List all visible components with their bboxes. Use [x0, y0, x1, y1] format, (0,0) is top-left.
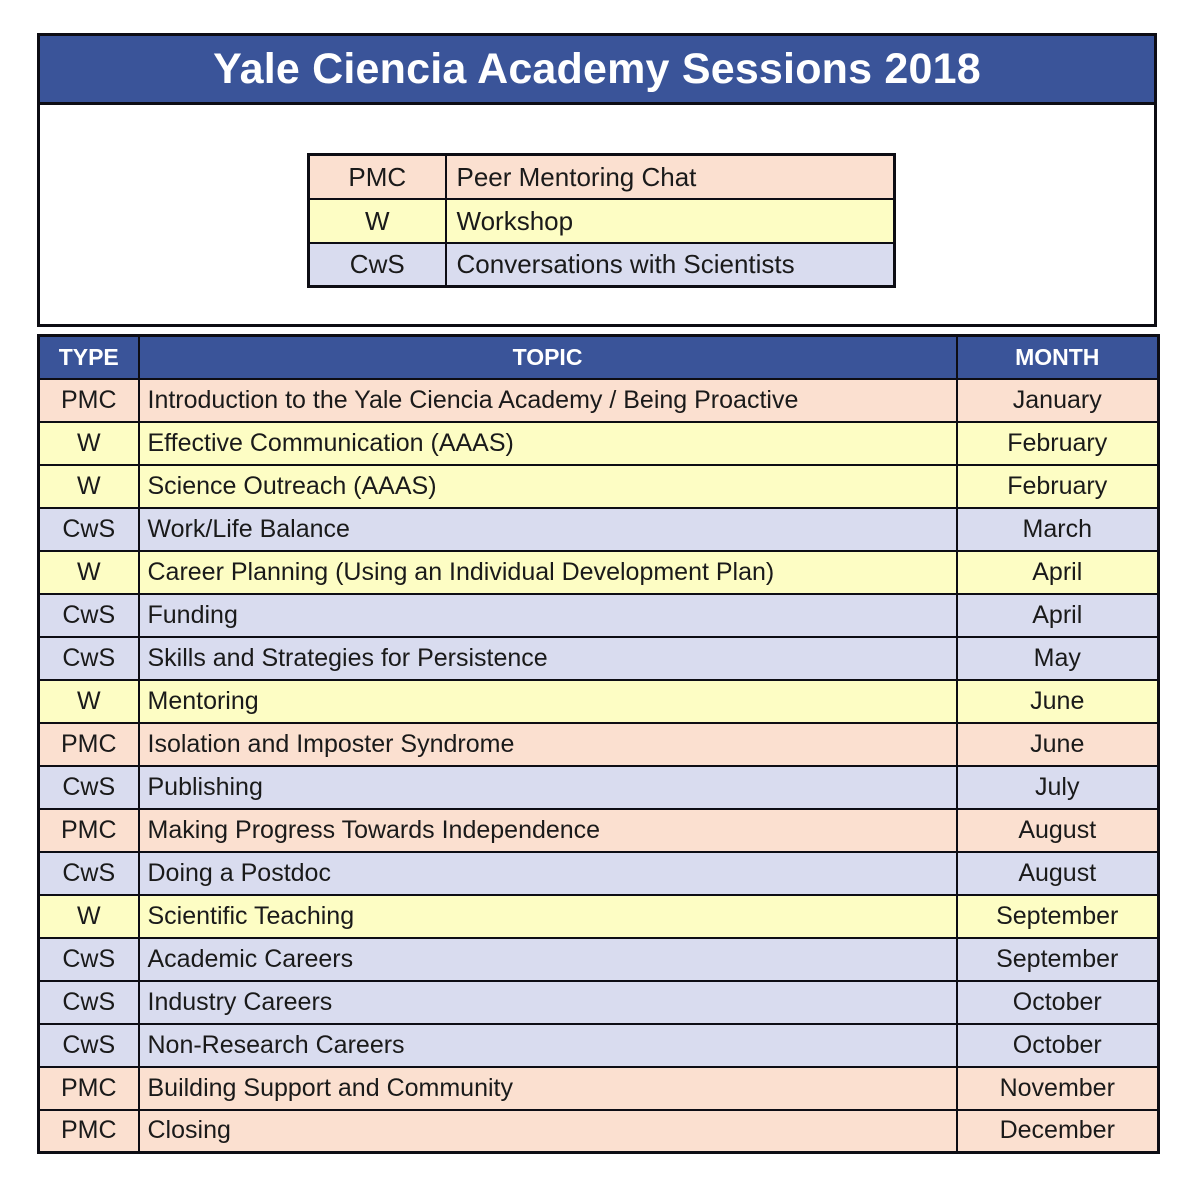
session-month-cell: September [957, 895, 1159, 938]
table-row: PMCBuilding Support and CommunityNovembe… [39, 1067, 1159, 1110]
session-type-cell: W [39, 680, 139, 723]
legend-row: PMCPeer Mentoring Chat [309, 155, 895, 199]
table-row: PMCMaking Progress Towards IndependenceA… [39, 809, 1159, 852]
legend-description: Workshop [446, 199, 895, 243]
table-row: PMCClosingDecember [39, 1110, 1159, 1153]
legend-code: W [309, 199, 446, 243]
session-type-cell: W [39, 895, 139, 938]
column-header-topic: TOPIC [139, 336, 957, 379]
legend-panel: PMCPeer Mentoring ChatWWorkshopCwSConver… [37, 105, 1157, 327]
session-type-cell: PMC [39, 1110, 139, 1153]
session-schedule-table: TYPE TOPIC MONTH PMCIntroduction to the … [37, 334, 1160, 1154]
session-type-cell: PMC [39, 723, 139, 766]
session-month-cell: August [957, 852, 1159, 895]
session-topic-cell: Isolation and Imposter Syndrome [139, 723, 957, 766]
session-month-cell: October [957, 981, 1159, 1024]
table-row: CwSFundingApril [39, 594, 1159, 637]
session-month-cell: April [957, 594, 1159, 637]
session-topic-cell: Academic Careers [139, 938, 957, 981]
table-row: CwSAcademic CareersSeptember [39, 938, 1159, 981]
session-month-cell: July [957, 766, 1159, 809]
table-row: CwSNon-Research CareersOctober [39, 1024, 1159, 1067]
session-month-cell: June [957, 723, 1159, 766]
session-month-cell: January [957, 379, 1159, 422]
session-type-cell: PMC [39, 809, 139, 852]
session-type-cell: W [39, 465, 139, 508]
column-header-type: TYPE [39, 336, 139, 379]
legend-row: CwSConversations with Scientists [309, 243, 895, 287]
legend-description: Peer Mentoring Chat [446, 155, 895, 199]
table-row: CwSWork/Life BalanceMarch [39, 508, 1159, 551]
session-type-cell: CwS [39, 508, 139, 551]
session-type-cell: CwS [39, 852, 139, 895]
legend-table: PMCPeer Mentoring ChatWWorkshopCwSConver… [307, 153, 896, 288]
table-row: CwSSkills and Strategies for Persistence… [39, 637, 1159, 680]
legend-code: PMC [309, 155, 446, 199]
session-topic-cell: Work/Life Balance [139, 508, 957, 551]
page-title: Yale Ciencia Academy Sessions 2018 [213, 48, 981, 91]
session-type-cell: PMC [39, 379, 139, 422]
session-type-cell: W [39, 551, 139, 594]
legend-code: CwS [309, 243, 446, 287]
table-row: WMentoringJune [39, 680, 1159, 723]
table-row: WScience Outreach (AAAS)February [39, 465, 1159, 508]
session-topic-cell: Science Outreach (AAAS) [139, 465, 957, 508]
session-type-cell: CwS [39, 1024, 139, 1067]
session-month-cell: December [957, 1110, 1159, 1153]
session-month-cell: May [957, 637, 1159, 680]
session-topic-cell: Doing a Postdoc [139, 852, 957, 895]
table-row: CwSPublishingJuly [39, 766, 1159, 809]
session-month-cell: June [957, 680, 1159, 723]
session-topic-cell: Publishing [139, 766, 957, 809]
table-row: WCareer Planning (Using an Individual De… [39, 551, 1159, 594]
session-type-cell: CwS [39, 981, 139, 1024]
session-topic-cell: Making Progress Towards Independence [139, 809, 957, 852]
session-month-cell: November [957, 1067, 1159, 1110]
column-header-month: MONTH [957, 336, 1159, 379]
session-month-cell: March [957, 508, 1159, 551]
session-topic-cell: Effective Communication (AAAS) [139, 422, 957, 465]
session-topic-cell: Introduction to the Yale Ciencia Academy… [139, 379, 957, 422]
poster-title-bar: Yale Ciencia Academy Sessions 2018 [37, 33, 1157, 105]
session-topic-cell: Closing [139, 1110, 957, 1153]
session-month-cell: September [957, 938, 1159, 981]
session-topic-cell: Career Planning (Using an Individual Dev… [139, 551, 957, 594]
table-row: PMCIntroduction to the Yale Ciencia Acad… [39, 379, 1159, 422]
schedule-header-row: TYPE TOPIC MONTH [39, 336, 1159, 379]
session-month-cell: February [957, 465, 1159, 508]
session-topic-cell: Funding [139, 594, 957, 637]
session-topic-cell: Skills and Strategies for Persistence [139, 637, 957, 680]
table-row: PMCIsolation and Imposter SyndromeJune [39, 723, 1159, 766]
table-row: WScientific TeachingSeptember [39, 895, 1159, 938]
session-month-cell: April [957, 551, 1159, 594]
session-type-cell: CwS [39, 594, 139, 637]
table-row: CwSIndustry CareersOctober [39, 981, 1159, 1024]
session-topic-cell: Industry Careers [139, 981, 957, 1024]
legend-row: WWorkshop [309, 199, 895, 243]
session-type-cell: CwS [39, 766, 139, 809]
table-row: WEffective Communication (AAAS)February [39, 422, 1159, 465]
session-topic-cell: Non-Research Careers [139, 1024, 957, 1067]
session-type-cell: W [39, 422, 139, 465]
session-type-cell: CwS [39, 637, 139, 680]
session-type-cell: CwS [39, 938, 139, 981]
legend-description: Conversations with Scientists [446, 243, 895, 287]
session-type-cell: PMC [39, 1067, 139, 1110]
session-topic-cell: Scientific Teaching [139, 895, 957, 938]
session-month-cell: August [957, 809, 1159, 852]
session-month-cell: October [957, 1024, 1159, 1067]
session-month-cell: February [957, 422, 1159, 465]
session-topic-cell: Mentoring [139, 680, 957, 723]
table-row: CwSDoing a PostdocAugust [39, 852, 1159, 895]
session-topic-cell: Building Support and Community [139, 1067, 957, 1110]
schedule-poster: Yale Ciencia Academy Sessions 2018 PMCPe… [0, 0, 1192, 1200]
